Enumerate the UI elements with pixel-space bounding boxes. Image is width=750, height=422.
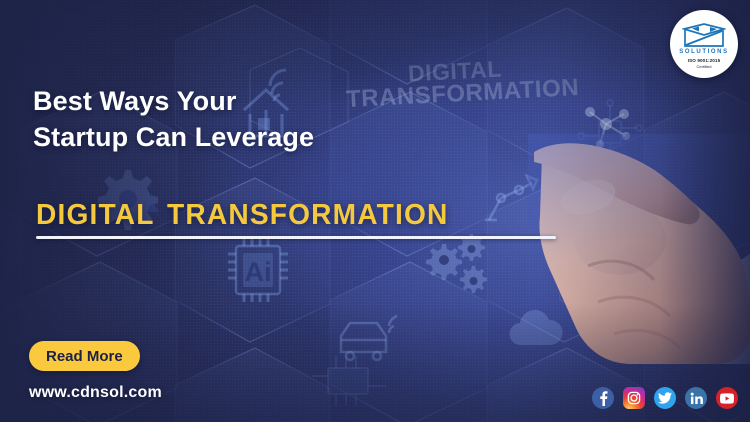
cdn-logo-icon bbox=[682, 22, 726, 49]
youtube-icon[interactable] bbox=[716, 387, 738, 409]
logo-iso-text: ISO 9001:2015 bbox=[688, 58, 720, 63]
logo-certified-text: Certified bbox=[697, 64, 712, 69]
linkedin-icon[interactable] bbox=[685, 387, 707, 409]
twitter-icon[interactable] bbox=[654, 387, 676, 409]
company-logo[interactable]: SOLUTIONS ISO 9001:2015 Certified bbox=[670, 10, 738, 78]
headline-line-1: Best Ways Your bbox=[33, 86, 236, 116]
banner-headline: Best Ways Your Startup Can Leverage bbox=[33, 83, 314, 155]
read-more-button[interactable]: Read More bbox=[29, 341, 140, 371]
facebook-icon[interactable] bbox=[592, 387, 614, 409]
title-underline bbox=[36, 236, 556, 239]
banner-title: Digital Transformation bbox=[36, 186, 448, 234]
website-url[interactable]: www.cdnsol.com bbox=[29, 384, 162, 402]
social-links bbox=[592, 387, 738, 409]
instagram-icon[interactable] bbox=[623, 387, 645, 409]
headline-line-2: Startup Can Leverage bbox=[33, 119, 314, 155]
promo-banner: DIGITAL TRANSFORMATION Ai bbox=[0, 0, 750, 422]
logo-brand-text: SOLUTIONS bbox=[679, 49, 728, 55]
